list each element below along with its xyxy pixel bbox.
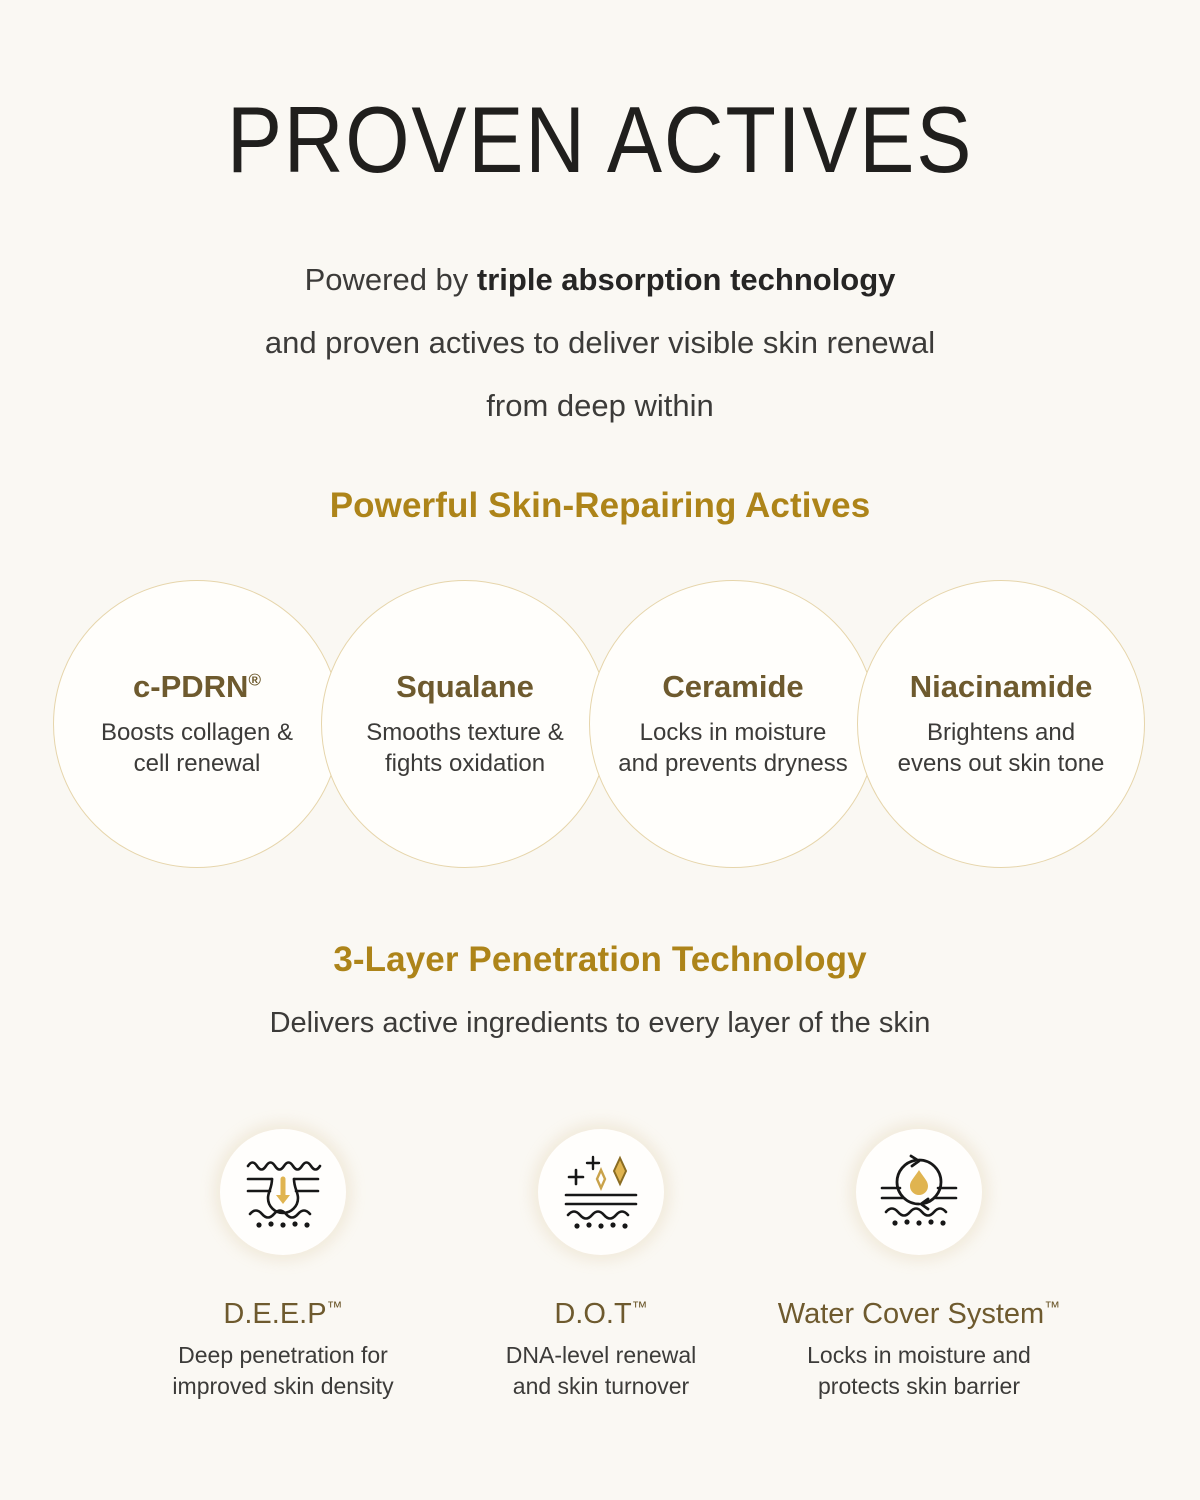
technology-name: Water Cover System™ xyxy=(754,1298,1084,1331)
active-description: Locks in moisture and prevents dryness xyxy=(618,717,847,779)
trademark-icon: ™ xyxy=(327,1299,343,1316)
hero-subtitle-line-1: Powered by triple absorption technology xyxy=(0,248,1200,311)
technology-item-water-cover-system: Water Cover System™ Locks in moisture an… xyxy=(754,1129,1084,1402)
active-description: Brightens and evens out skin tone xyxy=(898,717,1105,779)
technology-name-text: D.O.T xyxy=(554,1298,631,1330)
page-title: PROVEN ACTIVES xyxy=(72,90,1128,190)
infographic-page: PROVEN ACTIVES Powered by triple absorpt… xyxy=(0,0,1200,1500)
active-name: Squalane xyxy=(396,669,534,705)
active-name-text: c-PDRN xyxy=(133,669,248,704)
active-circle-niacinamide: Niacinamide Brightens and evens out skin… xyxy=(857,580,1145,868)
technology-name: D.E.E.P™ xyxy=(118,1298,448,1331)
actives-circle-row: c-PDRN® Boosts collagen & cell renewal S… xyxy=(53,580,1147,870)
technology-item-row: D.E.E.P™ Deep penetration for improved s… xyxy=(0,1129,1200,1469)
active-circle-squalane: Squalane Smooths texture & fights oxidat… xyxy=(321,580,609,868)
technology-description: Locks in moisture and protects skin barr… xyxy=(754,1340,1084,1402)
active-circle-ceramide: Ceramide Locks in moisture and prevents … xyxy=(589,580,877,868)
active-circle-c-pdrn: c-PDRN® Boosts collagen & cell renewal xyxy=(53,580,341,868)
active-description: Boosts collagen & cell renewal xyxy=(101,717,293,779)
hero-subtitle-line-3: from deep within xyxy=(0,374,1200,437)
active-description: Smooths texture & fights oxidation xyxy=(366,717,563,779)
hero-subtitle-line-2: and proven actives to deliver visible sk… xyxy=(0,311,1200,374)
technology-description: DNA-level renewal and skin turnover xyxy=(436,1340,766,1402)
active-name-text: Niacinamide xyxy=(910,669,1093,704)
technology-item-deep: D.E.E.P™ Deep penetration for improved s… xyxy=(118,1129,448,1402)
hero-subtitle: Powered by triple absorption technology … xyxy=(0,248,1200,437)
active-name-text: Ceramide xyxy=(662,669,803,704)
technology-description: Deep penetration for improved skin densi… xyxy=(118,1340,448,1402)
active-name: c-PDRN® xyxy=(133,669,261,705)
skin-sparkle-renewal-icon xyxy=(538,1129,664,1255)
technology-section-heading: 3-Layer Penetration Technology xyxy=(0,940,1200,980)
active-name: Niacinamide xyxy=(910,669,1093,705)
technology-name-text: D.E.E.P xyxy=(223,1298,326,1330)
registered-trademark-icon: ® xyxy=(248,671,261,690)
technology-section-subheading: Delivers active ingredients to every lay… xyxy=(0,1007,1200,1040)
trademark-icon: ™ xyxy=(1044,1299,1060,1316)
hero-subtitle-emphasis: triple absorption technology xyxy=(477,262,896,297)
technology-item-dot: D.O.T™ DNA-level renewal and skin turnov… xyxy=(436,1129,766,1402)
technology-name: D.O.T™ xyxy=(436,1298,766,1331)
active-name-text: Squalane xyxy=(396,669,534,704)
trademark-icon: ™ xyxy=(632,1299,648,1316)
active-name: Ceramide xyxy=(662,669,803,705)
water-droplet-cycle-icon xyxy=(856,1129,982,1255)
hero-subtitle-prefix: Powered by xyxy=(305,262,477,297)
skin-pore-absorption-icon xyxy=(220,1129,346,1255)
technology-name-text: Water Cover System xyxy=(778,1298,1044,1330)
actives-section-heading: Powerful Skin-Repairing Actives xyxy=(0,486,1200,526)
